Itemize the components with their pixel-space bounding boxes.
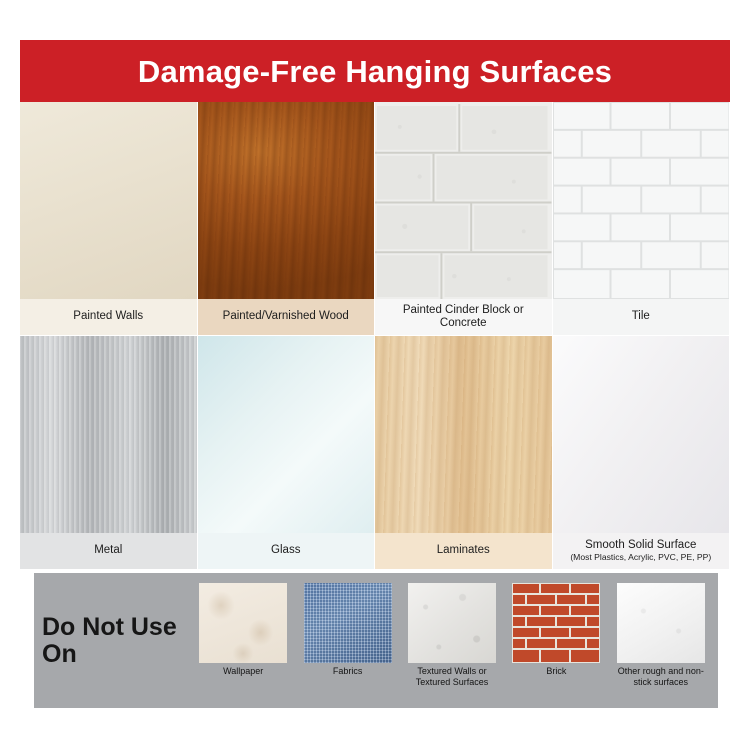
do-not-item-label: Brick: [546, 666, 566, 677]
tile-swatch: [553, 102, 730, 299]
surface-cell-painted-walls: Painted Walls: [20, 102, 198, 336]
surface-cell-painted-cinder-block: Painted Cinder Block or Concrete: [375, 102, 553, 336]
surface-caption: Painted/Varnished Wood: [198, 299, 375, 335]
surface-caption: Metal: [20, 533, 197, 569]
surface-label: Laminates: [437, 544, 490, 557]
surface-label: Painted/Varnished Wood: [223, 310, 349, 323]
do-not-item-textured-walls: Textured Walls or Textured Surfaces: [403, 583, 501, 702]
metal-swatch: [20, 336, 197, 533]
surface-cell-smooth-solid-surface: Smooth Solid Surface (Most Plastics, Acr…: [553, 336, 731, 570]
do-not-item-label: Textured Walls or Textured Surfaces: [403, 666, 501, 688]
surface-caption: Painted Cinder Block or Concrete: [375, 299, 552, 335]
surface-caption: Laminates: [375, 533, 552, 569]
surface-label: Painted Cinder Block or Concrete: [379, 304, 548, 330]
surface-caption: Tile: [553, 299, 730, 335]
painted-walls-swatch: [20, 102, 197, 299]
surface-caption: Glass: [198, 533, 375, 569]
brick-swatch: [512, 583, 600, 663]
textured-wall-swatch: [408, 583, 496, 663]
other-rough-swatch: [617, 583, 705, 663]
surface-label: Smooth Solid Surface: [585, 539, 696, 552]
do-not-use-label: Do Not Use On: [42, 614, 194, 668]
do-not-item-label: Fabrics: [333, 666, 363, 677]
surface-cell-laminates: Laminates: [375, 336, 553, 570]
glass-swatch: [198, 336, 375, 533]
do-not-item-fabrics: Fabrics: [298, 583, 396, 702]
infographic-page: Damage-Free Hanging Surfaces Painted Wal…: [0, 0, 750, 750]
surface-cell-tile: Tile: [553, 102, 731, 336]
surface-sublabel: (Most Plastics, Acrylic, PVC, PE, PP): [570, 553, 711, 563]
surface-cell-metal: Metal: [20, 336, 198, 570]
header-banner: Damage-Free Hanging Surfaces: [20, 40, 730, 102]
wood-swatch: [198, 102, 375, 299]
surface-caption: Smooth Solid Surface (Most Plastics, Acr…: [553, 533, 730, 569]
do-not-use-bar: Do Not Use On Wallpaper Fabrics Textured…: [34, 573, 718, 708]
fabric-swatch: [304, 583, 392, 663]
smooth-solid-surface-swatch: [553, 336, 730, 533]
wallpaper-swatch: [199, 583, 287, 663]
surface-caption: Painted Walls: [20, 299, 197, 335]
do-not-item-other-rough: Other rough and non-stick surfaces: [612, 583, 710, 702]
do-not-item-label: Wallpaper: [223, 666, 263, 677]
brick-texture-icon: [512, 583, 600, 663]
do-not-item-wallpaper: Wallpaper: [194, 583, 292, 702]
do-not-use-items: Wallpaper Fabrics Textured Walls or Text…: [194, 573, 718, 708]
cinder-block-texture-icon: [375, 102, 552, 299]
do-not-item-label: Other rough and non-stick surfaces: [612, 666, 710, 688]
surface-label: Painted Walls: [73, 310, 143, 323]
do-not-use-label-wrap: Do Not Use On: [34, 573, 194, 708]
subway-tile-texture-icon: [553, 102, 730, 299]
do-not-item-brick: Brick: [507, 583, 605, 702]
laminate-swatch: [375, 336, 552, 533]
surface-cell-glass: Glass: [198, 336, 376, 570]
surface-label: Metal: [94, 544, 122, 557]
approved-surfaces-grid: Painted Walls Painted/Varnished Wood: [20, 102, 730, 570]
surface-cell-painted-varnished-wood: Painted/Varnished Wood: [198, 102, 376, 336]
surface-label: Glass: [271, 544, 300, 557]
cinder-block-swatch: [375, 102, 552, 299]
page-title: Damage-Free Hanging Surfaces: [138, 56, 612, 87]
surface-label: Tile: [632, 310, 650, 323]
